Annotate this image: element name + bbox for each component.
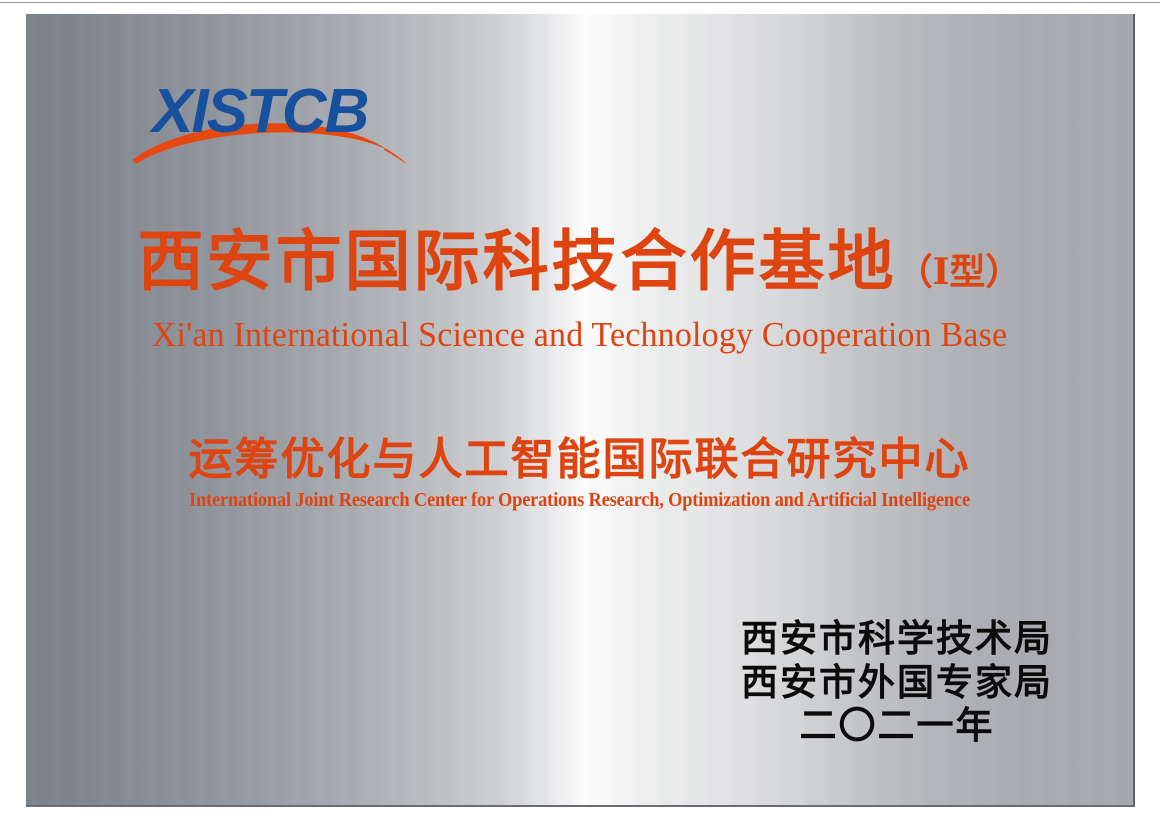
issuing-year: 二〇二一年 <box>741 704 1053 748</box>
plaque-main-title-english: Xi'an International Science and Technolo… <box>43 317 1117 352</box>
page-top-rule <box>0 2 1160 3</box>
organization-logo: XISTCB <box>112 76 432 181</box>
logo-wordmark: XISTCB <box>152 81 367 143</box>
issuing-authority-line-2: 西安市外国专家局 <box>741 661 1053 705</box>
plaque-main-title: 西安市国际科技合作基地（I型） <box>26 228 1133 294</box>
research-center-name-chinese: 运筹优化与人工智能国际联合研究中心 <box>26 438 1133 482</box>
issuing-authority-line-1: 西安市科学技术局 <box>741 617 1053 661</box>
research-center-name-english: International Joint Research Center for … <box>70 490 1088 510</box>
award-plaque: XISTCB 西安市国际科技合作基地（I型） Xi'an Internation… <box>26 14 1135 807</box>
plaque-main-title-type-suffix: （I型） <box>897 251 1022 293</box>
issuing-authority-block: 西安市科学技术局 西安市外国专家局 二〇二一年 <box>741 617 1053 748</box>
plaque-main-title-chinese: 西安市国际科技合作基地 <box>138 222 897 300</box>
